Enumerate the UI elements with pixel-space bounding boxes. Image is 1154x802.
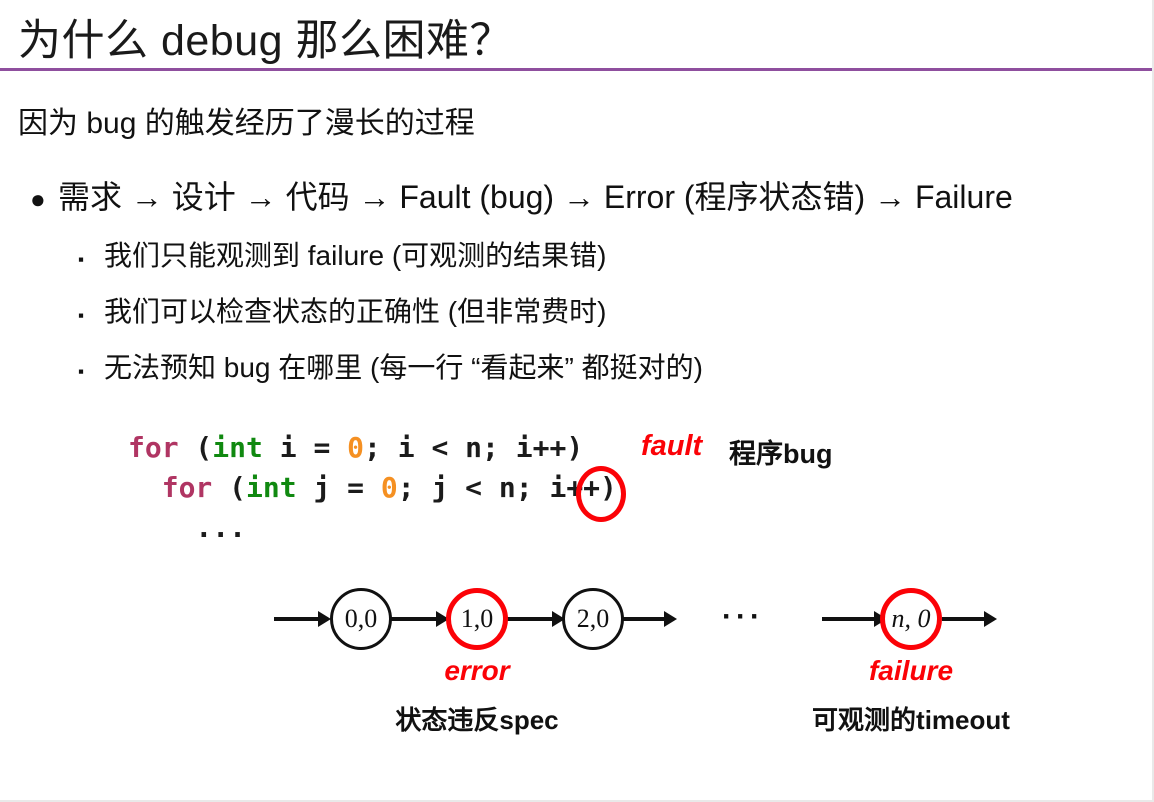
code-number-zero: 0 — [347, 431, 364, 464]
code-line-1: for (int i = 0; i < n; i++) — [128, 431, 583, 464]
code-paren-open: ( — [179, 431, 213, 464]
code-type-int: int — [246, 471, 297, 504]
sub-bullet-label: 无法预知 bug 在哪里 (每一行 “看起来” 都挺对的) — [104, 346, 703, 386]
sub-bullet-item-unpredictable-bug: ▪ 无法预知 bug 在哪里 (每一行 “看起来” 都挺对的) — [78, 346, 703, 386]
state-node-0-0: 0,0 — [330, 588, 392, 650]
code-line-2: for (int j = 0; j < n; i++) — [128, 471, 617, 504]
code-var-init: i = — [263, 431, 347, 464]
error-caption: 状态违反spec — [377, 700, 577, 737]
arrow-state-1-to-2 — [506, 617, 562, 621]
code-indent — [128, 471, 162, 504]
failure-annotation: failure — [841, 655, 981, 687]
code-line-3-ellipsis: ... — [128, 511, 246, 544]
sub-bullet-label: 我们只能观测到 failure (可观测的结果错) — [104, 234, 606, 274]
bullet-item-pipeline: ● 需求 → 设计 → 代码 → Fault (bug) → Error (程序… — [30, 172, 1013, 218]
title-divider — [0, 68, 1152, 71]
state-node-label: 0,0 — [345, 604, 378, 634]
error-annotation: error — [417, 655, 537, 687]
state-node-label: 2,0 — [577, 604, 610, 634]
state-node-n-0: n, 0 — [880, 588, 942, 650]
bullet-marker-square: ▪ — [78, 363, 104, 380]
sub-bullet-item-check-state: ▪ 我们可以检查状态的正确性 (但非常费时) — [78, 290, 606, 330]
code-var-init: j = — [297, 471, 381, 504]
code-block: for (int i = 0; i < n; i++) for (int j =… — [128, 428, 617, 548]
code-number-zero: 0 — [381, 471, 398, 504]
arrow-in-state-0 — [274, 617, 328, 621]
state-node-label: n, 0 — [892, 604, 931, 634]
code-keyword-for: for — [162, 471, 213, 504]
code-keyword-for: for — [128, 431, 179, 464]
state-node-label: 1,0 — [461, 604, 494, 634]
state-transition-diagram: 0,0 1,0 2,0 ··· n, 0 error 状态违反spec fail… — [260, 560, 1000, 760]
state-node-2-0: 2,0 — [562, 588, 624, 650]
bullet-marker-square: ▪ — [78, 307, 104, 324]
state-node-1-0: 1,0 — [446, 588, 508, 650]
bullet-marker-round: ● — [30, 186, 58, 212]
page-title: 为什么 debug 那么困难？ — [18, 6, 513, 68]
sub-bullet-label: 我们可以检查状态的正确性 (但非常费时) — [104, 290, 606, 330]
arrow-out-state-2 — [622, 617, 674, 621]
code-paren-open: ( — [212, 471, 246, 504]
bullet-marker-square: ▪ — [78, 251, 104, 268]
code-loop-rest: ; i < n; i++) — [364, 431, 583, 464]
slide-canvas: 为什么 debug 那么困难？ 因为 bug 的触发经历了漫长的过程 ● 需求 … — [0, 0, 1154, 802]
code-type-int: int — [212, 431, 263, 464]
lead-text: 因为 bug 的触发经历了漫长的过程 — [18, 98, 475, 142]
arrow-state-0-to-1 — [390, 617, 446, 621]
arrow-out-state-n — [942, 617, 994, 621]
sub-bullet-item-observe-failure: ▪ 我们只能观测到 failure (可观测的结果错) — [78, 234, 606, 274]
bullet-label: 需求 → 设计 → 代码 → Fault (bug) → Error (程序状态… — [58, 172, 1013, 218]
fault-annotation-note: 程序bug — [729, 432, 832, 471]
failure-caption: 可观测的timeout — [781, 700, 1041, 737]
arrow-in-state-n — [822, 617, 884, 621]
fault-annotation: fault — [641, 430, 702, 463]
bug-highlight-circle-icon — [576, 466, 626, 522]
diagram-ellipsis: ··· — [722, 600, 764, 634]
